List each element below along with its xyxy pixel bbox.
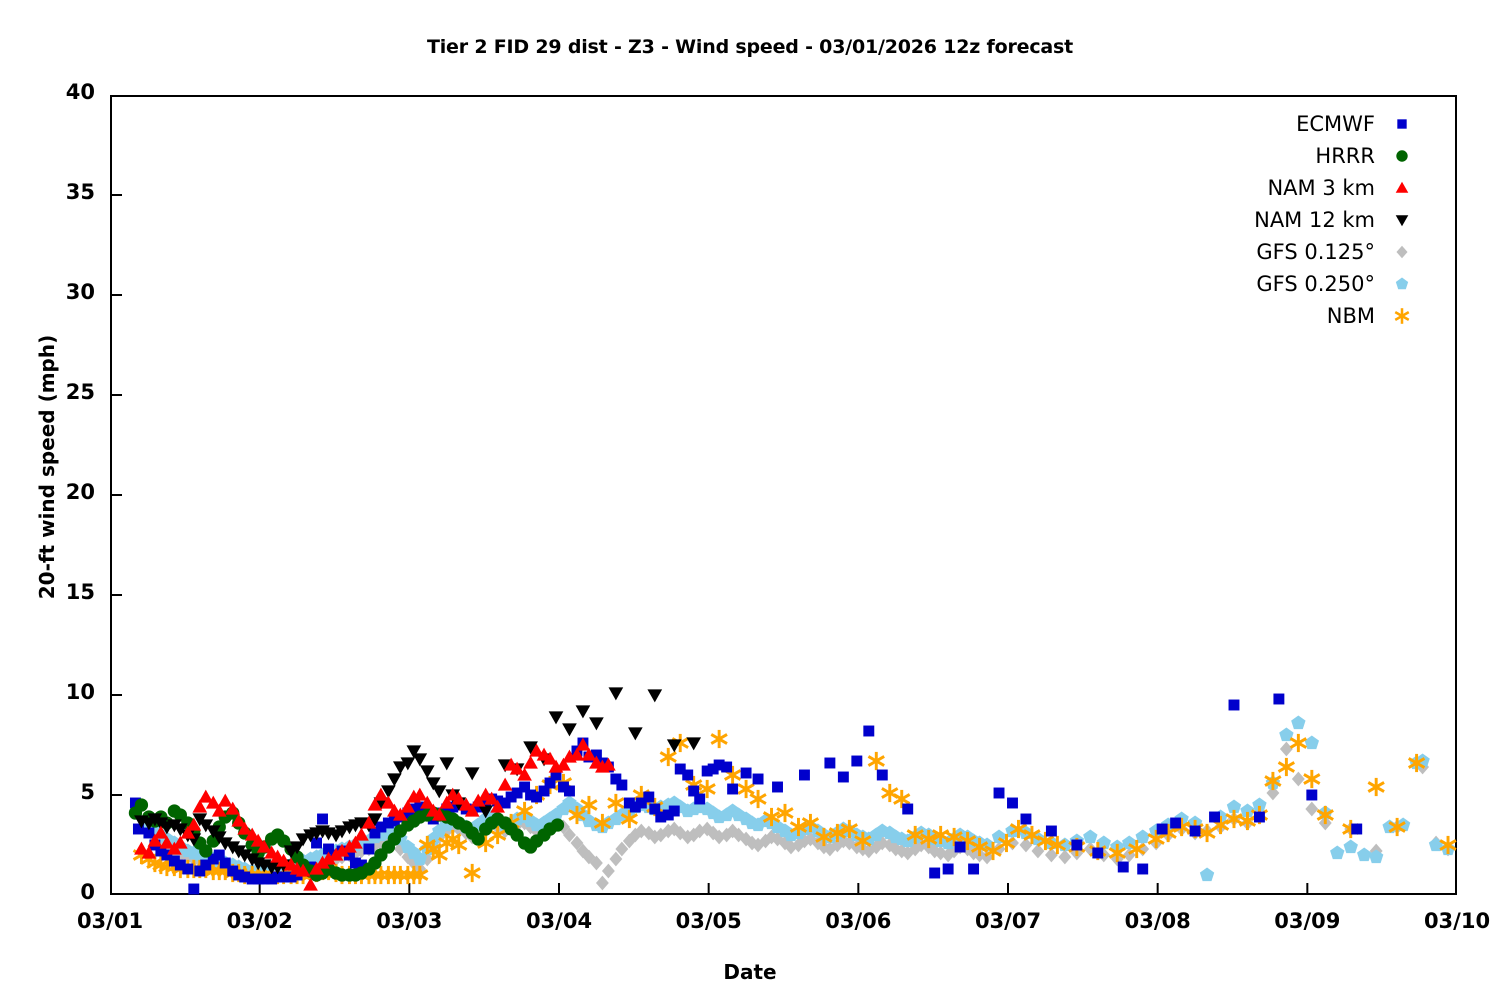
square-icon bbox=[1389, 111, 1415, 137]
pentagon-icon bbox=[1389, 271, 1415, 297]
legend-label: GFS 0.250° bbox=[1256, 272, 1375, 296]
legend-label: NAM 12 km bbox=[1254, 208, 1375, 232]
legend-label: NAM 3 km bbox=[1267, 176, 1375, 200]
x-tick-label: 03/08 bbox=[1088, 909, 1228, 933]
triangle-down-icon bbox=[1389, 207, 1415, 233]
legend-item-hrrr[interactable]: HRRR bbox=[1150, 140, 1415, 172]
diamond-icon bbox=[1389, 239, 1415, 265]
y-tick-label: 40 bbox=[25, 80, 95, 104]
legend-item-nam-3-km[interactable]: NAM 3 km bbox=[1150, 172, 1415, 204]
x-tick-label: 03/03 bbox=[339, 909, 479, 933]
x-axis-title: Date bbox=[0, 960, 1500, 984]
x-tick-label: 03/04 bbox=[489, 909, 629, 933]
legend-label: GFS 0.125° bbox=[1256, 240, 1375, 264]
chart-legend: ECMWFHRRRNAM 3 kmNAM 12 kmGFS 0.125°GFS … bbox=[1150, 108, 1415, 332]
legend-item-gfs-0-125[interactable]: GFS 0.125° bbox=[1150, 236, 1415, 268]
x-tick-label: 03/05 bbox=[639, 909, 779, 933]
chart-page: Tier 2 FID 29 dist - Z3 - Wind speed - 0… bbox=[0, 0, 1500, 1000]
circle-icon bbox=[1389, 143, 1415, 169]
legend-item-gfs-0-250[interactable]: GFS 0.250° bbox=[1150, 268, 1415, 300]
x-tick-label: 03/06 bbox=[788, 909, 928, 933]
legend-label: NBM bbox=[1327, 304, 1375, 328]
legend-label: ECMWF bbox=[1296, 112, 1375, 136]
legend-item-nam-12-km[interactable]: NAM 12 km bbox=[1150, 204, 1415, 236]
x-tick-label: 03/09 bbox=[1237, 909, 1377, 933]
y-tick-label: 25 bbox=[25, 380, 95, 404]
y-tick-label: 5 bbox=[25, 780, 95, 804]
x-tick-label: 03/02 bbox=[190, 909, 330, 933]
y-tick-label: 10 bbox=[25, 680, 95, 704]
legend-item-nbm[interactable]: NBM bbox=[1150, 300, 1415, 332]
series-layer bbox=[129, 687, 1456, 894]
y-tick-label: 30 bbox=[25, 280, 95, 304]
asterisk-icon bbox=[1389, 303, 1415, 329]
x-tick-label: 03/07 bbox=[938, 909, 1078, 933]
x-tick-label: 03/10 bbox=[1387, 909, 1500, 933]
y-tick-label: 0 bbox=[25, 880, 95, 904]
y-tick-label: 15 bbox=[25, 580, 95, 604]
y-tick-label: 35 bbox=[25, 180, 95, 204]
legend-item-ecmwf[interactable]: ECMWF bbox=[1150, 108, 1415, 140]
triangle-up-icon bbox=[1389, 175, 1415, 201]
y-tick-label: 20 bbox=[25, 480, 95, 504]
x-tick-label: 03/01 bbox=[40, 909, 180, 933]
legend-label: HRRR bbox=[1315, 144, 1375, 168]
